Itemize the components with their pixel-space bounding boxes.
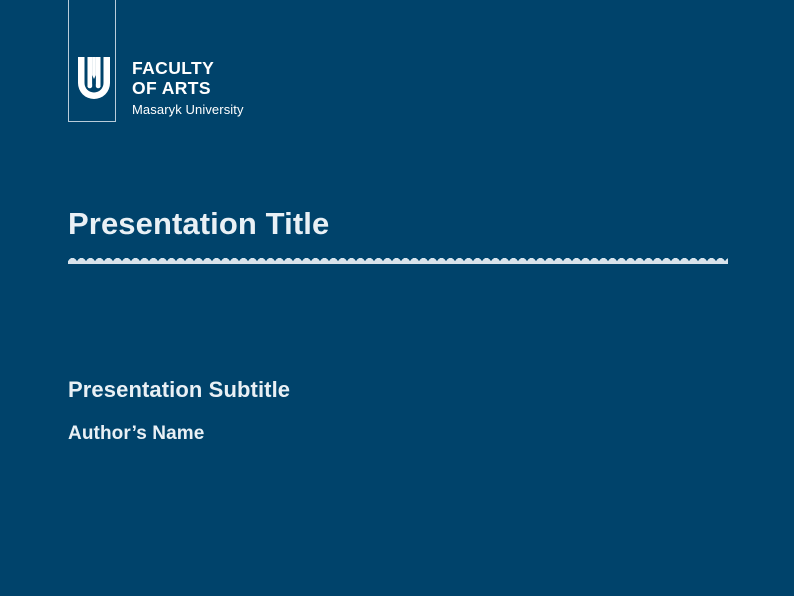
page-title[interactable]: Presentation Title <box>68 204 748 244</box>
author-name[interactable]: Author’s Name <box>68 421 748 447</box>
dotted-divider <box>68 258 728 264</box>
presentation-subtitle[interactable]: Presentation Subtitle <box>68 375 748 405</box>
faculty-logo[interactable]: FACULTY OF ARTS Masaryk University <box>68 0 318 126</box>
logo-line-university: Masaryk University <box>132 102 318 118</box>
subtitle-area: Presentation Subtitle Author’s Name <box>68 375 748 447</box>
logo-line-faculty: FACULTY <box>132 58 318 78</box>
title-area: Presentation Title <box>68 204 748 264</box>
logo-wordmark: FACULTY OF ARTS Masaryk University <box>132 58 318 118</box>
presentation-title-slide: FACULTY OF ARTS Masaryk University Prese… <box>0 0 794 596</box>
masaryk-university-mu-monogram-icon <box>78 57 110 99</box>
logo-line-of-arts: OF ARTS <box>132 78 318 98</box>
